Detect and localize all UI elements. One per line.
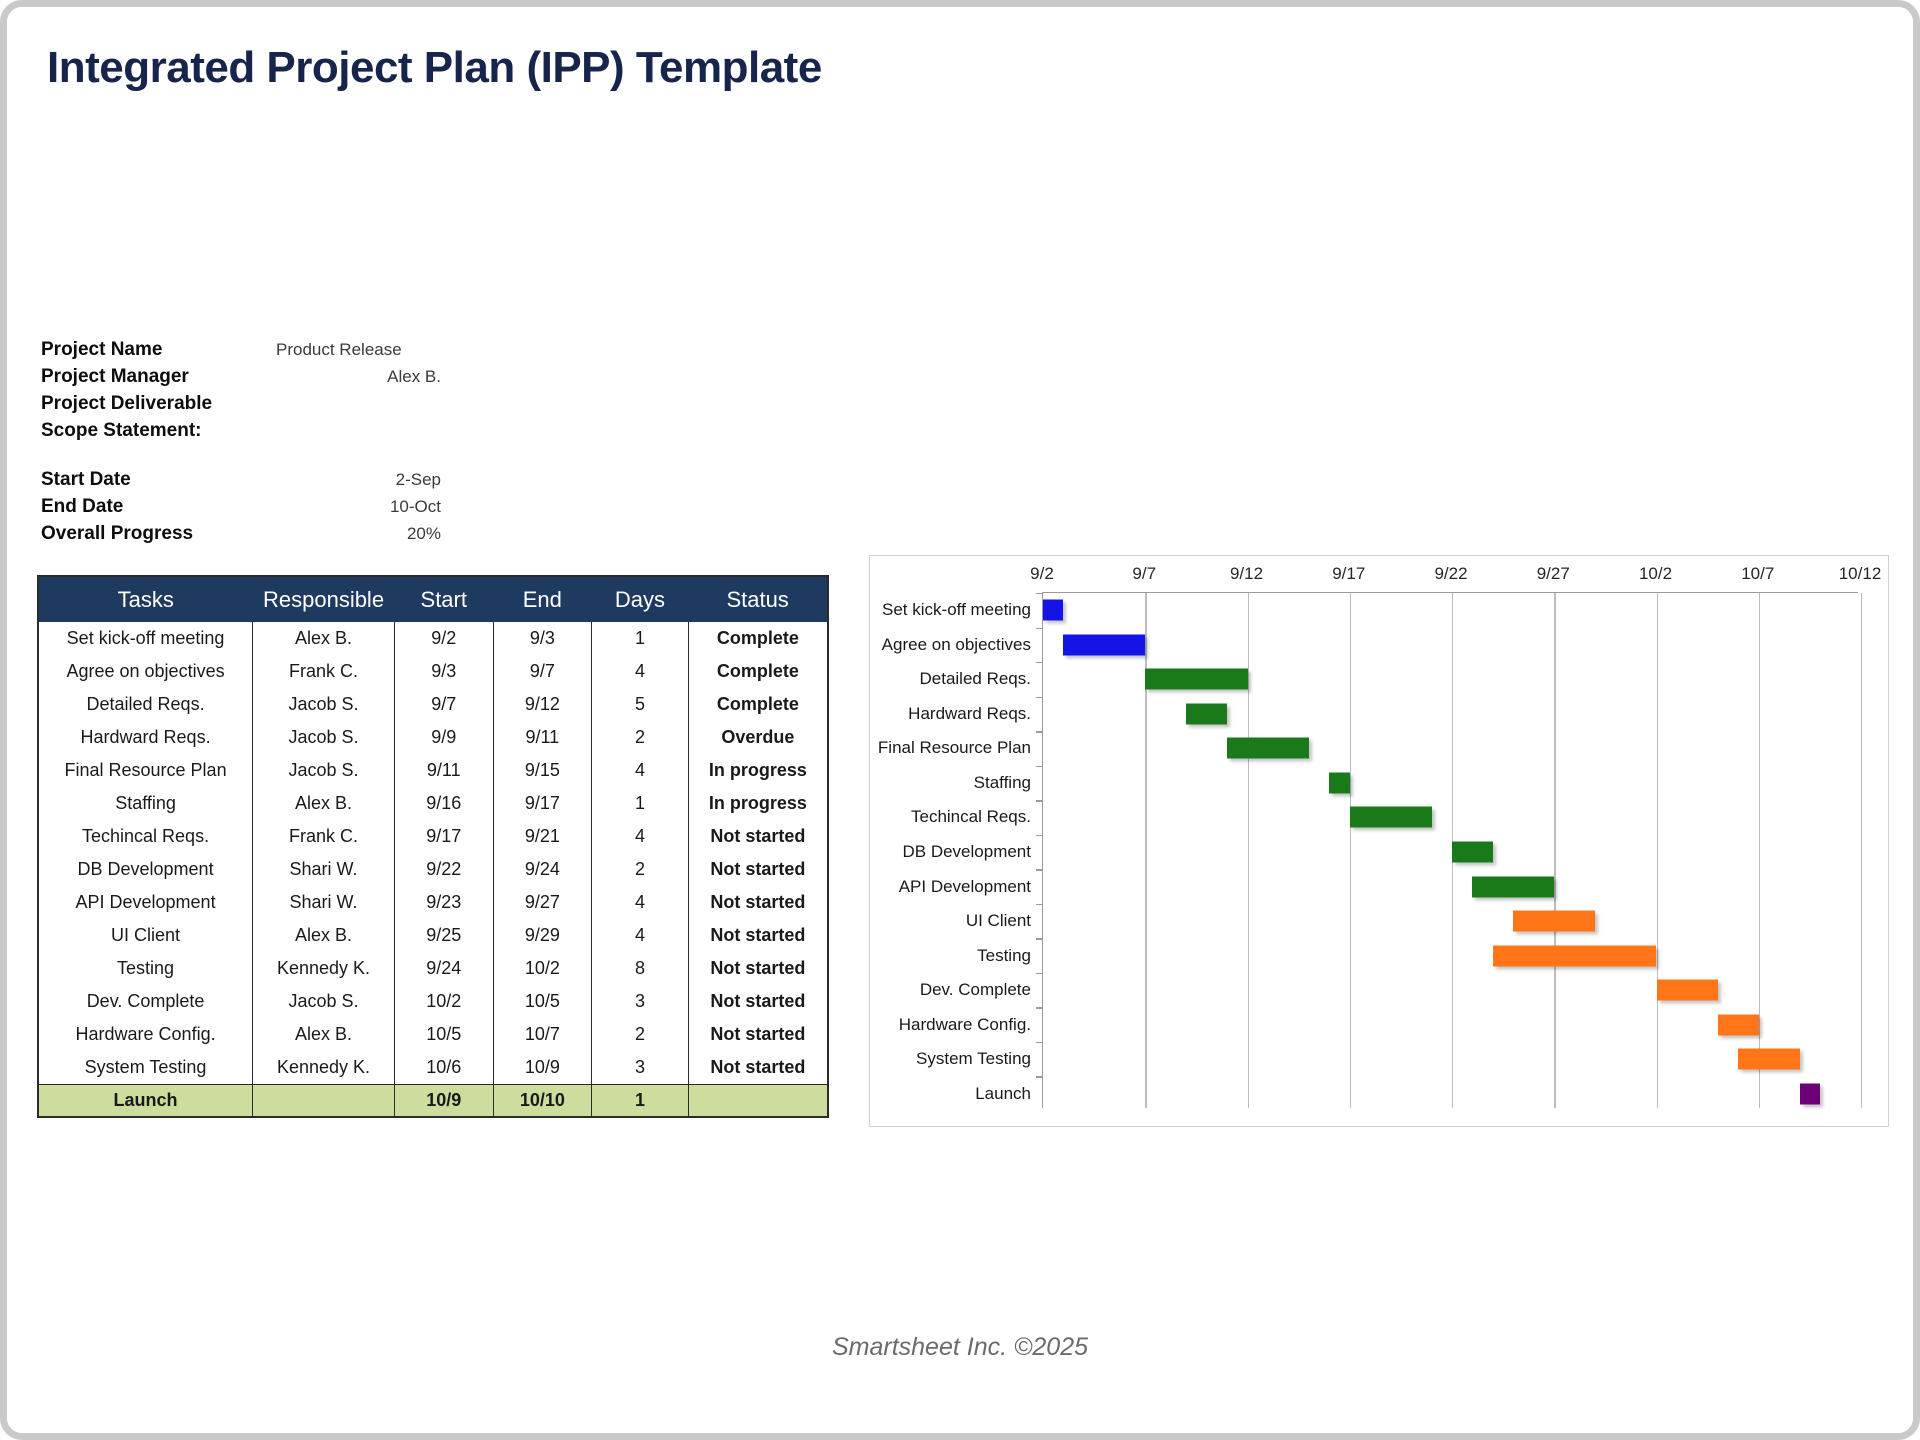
meta-row: Project ManagerAlex B. — [41, 366, 441, 393]
cell-task[interactable]: Staffing — [38, 787, 253, 820]
cell-end[interactable]: 10/7 — [493, 1018, 592, 1051]
table-row[interactable]: Launch10/910/101 — [38, 1084, 828, 1117]
cell-status[interactable]: In progress — [688, 787, 828, 820]
cell-days[interactable]: 4 — [592, 754, 689, 787]
cell-start[interactable]: 10/2 — [394, 985, 493, 1018]
gantt-bar[interactable] — [1452, 841, 1493, 862]
x-axis-tick-label: 10/7 — [1741, 564, 1774, 584]
cell-days[interactable]: 1 — [592, 1084, 689, 1117]
meta-label: Overall Progress — [41, 523, 276, 545]
gantt-bar[interactable] — [1329, 772, 1349, 793]
meta-value[interactable]: 20% — [276, 524, 441, 544]
cell-end[interactable]: 10/10 — [493, 1084, 592, 1117]
cell-task[interactable]: API Development — [38, 886, 253, 919]
table-row[interactable]: API DevelopmentShari W.9/239/274Not star… — [38, 886, 828, 919]
meta-value[interactable]: 2-Sep — [276, 470, 441, 490]
cell-end[interactable]: 9/21 — [493, 820, 592, 853]
gantt-chart: 9/29/79/129/179/229/2710/210/710/12 Set … — [869, 555, 1889, 1127]
gantt-row: Final Resource Plan — [1043, 731, 1858, 766]
meta-row: Project Deliverable — [41, 393, 441, 420]
gantt-row-label: Agree on objectives — [882, 635, 1031, 655]
y-axis-tickmark — [1036, 835, 1043, 836]
cell-responsible[interactable]: Shari W. — [253, 886, 395, 919]
gantt-bar[interactable] — [1350, 807, 1432, 828]
y-axis-tickmark — [1036, 697, 1043, 698]
cell-days[interactable]: 4 — [592, 655, 689, 688]
cell-days[interactable]: 1 — [592, 787, 689, 820]
cell-status[interactable]: Not started — [688, 952, 828, 985]
task-table-body: Set kick-off meetingAlex B.9/29/31Comple… — [38, 622, 828, 1117]
cell-end[interactable]: 9/15 — [493, 754, 592, 787]
cell-days[interactable]: 1 — [592, 622, 689, 655]
y-axis-tickmark — [1036, 662, 1043, 663]
y-axis-tickmark — [1036, 1076, 1043, 1077]
gantt-row-label: Launch — [975, 1084, 1031, 1104]
gantt-bar[interactable] — [1493, 945, 1657, 966]
cell-task[interactable]: Launch — [38, 1084, 253, 1117]
cell-status[interactable]: Complete — [688, 655, 828, 688]
gantt-row: DB Development — [1043, 835, 1858, 870]
cell-responsible[interactable]: Alex B. — [253, 787, 395, 820]
project-dates-block: Start Date2-SepEnd Date10-OctOverall Pro… — [41, 469, 441, 550]
cell-start[interactable]: 9/25 — [394, 919, 493, 952]
column-header-status[interactable]: Status — [688, 576, 828, 622]
meta-label: Scope Statement: — [41, 420, 276, 442]
cell-end[interactable]: 9/29 — [493, 919, 592, 952]
gridline — [1861, 593, 1862, 1108]
task-table: TasksResponsibleStartEndDaysStatus Set k… — [37, 575, 829, 1118]
y-axis-tickmark — [1036, 904, 1043, 905]
gantt-bar[interactable] — [1186, 703, 1227, 724]
cell-days[interactable]: 5 — [592, 688, 689, 721]
gantt-row-label: Hardware Config. — [899, 1015, 1031, 1035]
gantt-row-label: Techincal Reqs. — [911, 807, 1031, 827]
cell-days[interactable]: 2 — [592, 721, 689, 754]
project-info-block: Project NameProduct ReleaseProject Manag… — [41, 339, 441, 447]
column-header-responsible[interactable]: Responsible — [253, 576, 395, 622]
cell-start[interactable]: 9/22 — [394, 853, 493, 886]
x-axis-tick-label: 10/12 — [1839, 564, 1882, 584]
column-header-start[interactable]: Start — [394, 576, 493, 622]
table-row[interactable]: Hardward Reqs.Jacob S.9/99/112Overdue — [38, 721, 828, 754]
cell-days[interactable]: 3 — [592, 1051, 689, 1084]
gantt-row: Hardware Config. — [1043, 1007, 1858, 1042]
gantt-bar[interactable] — [1145, 669, 1247, 690]
cell-status[interactable]: Not started — [688, 919, 828, 952]
gantt-row: Launch — [1043, 1076, 1858, 1111]
y-axis-tickmark — [1036, 869, 1043, 870]
gantt-bar[interactable] — [1063, 634, 1145, 655]
cell-task[interactable]: Detailed Reqs. — [38, 688, 253, 721]
cell-status[interactable]: Complete — [688, 688, 828, 721]
cell-status[interactable]: In progress — [688, 754, 828, 787]
gantt-row: Agree on objectives — [1043, 628, 1858, 663]
cell-status[interactable]: Overdue — [688, 721, 828, 754]
cell-responsible[interactable] — [253, 1084, 395, 1117]
cell-end[interactable]: 9/11 — [493, 721, 592, 754]
cell-start[interactable]: 9/2 — [394, 622, 493, 655]
table-row[interactable]: StaffingAlex B.9/169/171In progress — [38, 787, 828, 820]
gantt-row: System Testing — [1043, 1042, 1858, 1077]
meta-row: Overall Progress20% — [41, 523, 441, 550]
meta-label: End Date — [41, 496, 276, 518]
gantt-row: Set kick-off meeting — [1043, 593, 1858, 628]
y-axis-tickmark — [1036, 766, 1043, 767]
cell-task[interactable]: Dev. Complete — [38, 985, 253, 1018]
cell-responsible[interactable]: Jacob S. — [253, 688, 395, 721]
gantt-row-label: DB Development — [902, 842, 1031, 862]
cell-responsible[interactable]: Jacob S. — [253, 985, 395, 1018]
cell-end[interactable]: 9/24 — [493, 853, 592, 886]
table-header-row: TasksResponsibleStartEndDaysStatus — [38, 576, 828, 622]
cell-status[interactable]: Not started — [688, 985, 828, 1018]
cell-end[interactable]: 9/12 — [493, 688, 592, 721]
cell-start[interactable]: 9/23 — [394, 886, 493, 919]
meta-label: Start Date — [41, 469, 276, 491]
task-table-header: TasksResponsibleStartEndDaysStatus — [38, 576, 828, 622]
cell-task[interactable]: Techincal Reqs. — [38, 820, 253, 853]
x-axis-tick-label: 9/22 — [1434, 564, 1467, 584]
cell-end[interactable]: 10/2 — [493, 952, 592, 985]
gantt-bar[interactable] — [1657, 980, 1718, 1001]
cell-responsible[interactable]: Jacob S. — [253, 754, 395, 787]
cell-days[interactable]: 4 — [592, 919, 689, 952]
gantt-row: Dev. Complete — [1043, 973, 1858, 1008]
gantt-row: Staffing — [1043, 766, 1858, 801]
y-axis-tickmark — [1036, 800, 1043, 801]
meta-value[interactable]: Alex B. — [276, 367, 441, 387]
cell-end[interactable]: 9/3 — [493, 622, 592, 655]
cell-start[interactable]: 10/6 — [394, 1051, 493, 1084]
cell-task[interactable]: UI Client — [38, 919, 253, 952]
cell-task[interactable]: Final Resource Plan — [38, 754, 253, 787]
cell-start[interactable]: 9/9 — [394, 721, 493, 754]
y-axis-tickmark — [1036, 973, 1043, 974]
cell-responsible[interactable]: Alex B. — [253, 1018, 395, 1051]
cell-responsible[interactable]: Frank C. — [253, 820, 395, 853]
gantt-plot-area: Set kick-off meetingAgree on objectivesD… — [1042, 592, 1858, 1108]
gantt-bar[interactable] — [1800, 1083, 1820, 1104]
cell-task[interactable]: Hardware Config. — [38, 1018, 253, 1051]
gantt-row: Techincal Reqs. — [1043, 800, 1858, 835]
cell-start[interactable]: 10/9 — [394, 1084, 493, 1117]
cell-end[interactable]: 10/9 — [493, 1051, 592, 1084]
cell-status[interactable]: Not started — [688, 853, 828, 886]
table-row[interactable]: Dev. CompleteJacob S.10/210/53Not starte… — [38, 985, 828, 1018]
gantt-row-label: Testing — [977, 946, 1031, 966]
x-axis-tick-label: 10/2 — [1639, 564, 1672, 584]
cell-task[interactable]: Set kick-off meeting — [38, 622, 253, 655]
cell-responsible[interactable]: Alex B. — [253, 919, 395, 952]
cell-days[interactable]: 3 — [592, 985, 689, 1018]
cell-status[interactable]: Complete — [688, 622, 828, 655]
meta-row: End Date10-Oct — [41, 496, 441, 523]
cell-task[interactable]: Testing — [38, 952, 253, 985]
cell-end[interactable]: 10/5 — [493, 985, 592, 1018]
cell-days[interactable]: 8 — [592, 952, 689, 985]
cell-status[interactable] — [688, 1084, 828, 1117]
cell-responsible[interactable]: Kennedy K. — [253, 1051, 395, 1084]
gantt-x-axis: 9/29/79/129/179/229/2710/210/710/12 — [870, 556, 1888, 592]
meta-label: Project Name — [41, 339, 276, 361]
cell-responsible[interactable]: Shari W. — [253, 853, 395, 886]
gantt-bar[interactable] — [1718, 1014, 1759, 1035]
meta-row: Project NameProduct Release — [41, 339, 441, 366]
gantt-row-label: Detailed Reqs. — [919, 669, 1031, 689]
gantt-row: API Development — [1043, 869, 1858, 904]
cell-start[interactable]: 9/16 — [394, 787, 493, 820]
gantt-row-label: Set kick-off meeting — [882, 600, 1031, 620]
footer-credit: Smartsheet Inc. ©2025 — [7, 1333, 1913, 1362]
table-row[interactable]: Agree on objectivesFrank C.9/39/74Comple… — [38, 655, 828, 688]
cell-status[interactable]: Not started — [688, 820, 828, 853]
table-row[interactable]: System TestingKennedy K.10/610/93Not sta… — [38, 1051, 828, 1084]
cell-end[interactable]: 9/27 — [493, 886, 592, 919]
column-header-days[interactable]: Days — [592, 576, 689, 622]
cell-status[interactable]: Not started — [688, 1051, 828, 1084]
cell-task[interactable]: DB Development — [38, 853, 253, 886]
cell-end[interactable]: 9/17 — [493, 787, 592, 820]
cell-days[interactable]: 2 — [592, 853, 689, 886]
y-axis-tickmark — [1036, 628, 1043, 629]
y-axis-tickmark — [1036, 938, 1043, 939]
gantt-row-label: Dev. Complete — [920, 980, 1031, 1000]
cell-start[interactable]: 9/24 — [394, 952, 493, 985]
gantt-bar[interactable] — [1043, 600, 1063, 621]
cell-responsible[interactable]: Frank C. — [253, 655, 395, 688]
cell-start[interactable]: 9/17 — [394, 820, 493, 853]
cell-days[interactable]: 4 — [592, 820, 689, 853]
column-header-end[interactable]: End — [493, 576, 592, 622]
table-row[interactable]: Hardware Config.Alex B.10/510/72Not star… — [38, 1018, 828, 1051]
cell-status[interactable]: Not started — [688, 1018, 828, 1051]
page-title: Integrated Project Plan (IPP) Template — [47, 43, 822, 93]
cell-task[interactable]: System Testing — [38, 1051, 253, 1084]
page-canvas: Integrated Project Plan (IPP) Template P… — [7, 7, 1913, 1433]
cell-days[interactable]: 4 — [592, 886, 689, 919]
meta-label: Project Manager — [41, 366, 276, 388]
x-axis-tick-label: 9/27 — [1537, 564, 1570, 584]
cell-responsible[interactable]: Alex B. — [253, 622, 395, 655]
gantt-bar[interactable] — [1738, 1049, 1799, 1070]
cell-task[interactable]: Agree on objectives — [38, 655, 253, 688]
gantt-row: Hardward Reqs. — [1043, 697, 1858, 732]
meta-row: Start Date2-Sep — [41, 469, 441, 496]
meta-row: Scope Statement: — [41, 420, 441, 447]
meta-value[interactable]: 10-Oct — [276, 497, 441, 517]
cell-task[interactable]: Hardward Reqs. — [38, 721, 253, 754]
gantt-row-label: Hardward Reqs. — [908, 704, 1031, 724]
gantt-row-label: Staffing — [974, 773, 1031, 793]
table-row[interactable]: Techincal Reqs.Frank C.9/179/214Not star… — [38, 820, 828, 853]
cell-start[interactable]: 9/3 — [394, 655, 493, 688]
gantt-bar[interactable] — [1513, 911, 1595, 932]
x-axis-tick-label: 9/12 — [1230, 564, 1263, 584]
y-axis-tickmark — [1036, 731, 1043, 732]
table-row[interactable]: DB DevelopmentShari W.9/229/242Not start… — [38, 853, 828, 886]
cell-start[interactable]: 10/5 — [394, 1018, 493, 1051]
gantt-row-label: API Development — [899, 877, 1031, 897]
meta-value[interactable]: Product Release — [276, 340, 441, 360]
table-row[interactable]: Set kick-off meetingAlex B.9/29/31Comple… — [38, 622, 828, 655]
y-axis-tickmark — [1036, 1007, 1043, 1008]
cell-responsible[interactable]: Jacob S. — [253, 721, 395, 754]
cell-responsible[interactable]: Kennedy K. — [253, 952, 395, 985]
cell-days[interactable]: 2 — [592, 1018, 689, 1051]
gantt-bar[interactable] — [1227, 738, 1309, 759]
table-row[interactable]: UI ClientAlex B.9/259/294Not started — [38, 919, 828, 952]
y-axis-tickmark — [1036, 593, 1043, 594]
gantt-row-label: System Testing — [916, 1049, 1031, 1069]
x-axis-tick-label: 9/17 — [1332, 564, 1365, 584]
document-page: Integrated Project Plan (IPP) Template P… — [0, 0, 1920, 1440]
cell-start[interactable]: 9/7 — [394, 688, 493, 721]
cell-start[interactable]: 9/11 — [394, 754, 493, 787]
column-header-tasks[interactable]: Tasks — [38, 576, 253, 622]
gantt-row-label: UI Client — [966, 911, 1031, 931]
gantt-row: UI Client — [1043, 904, 1858, 939]
gantt-row: Detailed Reqs. — [1043, 662, 1858, 697]
x-axis-tick-label: 9/7 — [1132, 564, 1156, 584]
gantt-row-label: Final Resource Plan — [878, 738, 1031, 758]
cell-end[interactable]: 9/7 — [493, 655, 592, 688]
x-axis-tick-label: 9/2 — [1030, 564, 1054, 584]
cell-status[interactable]: Not started — [688, 886, 828, 919]
gantt-bar[interactable] — [1472, 876, 1554, 897]
table-row[interactable]: TestingKennedy K.9/2410/28Not started — [38, 952, 828, 985]
meta-label: Project Deliverable — [41, 393, 276, 415]
gantt-row: Testing — [1043, 938, 1858, 973]
table-row[interactable]: Detailed Reqs.Jacob S.9/79/125Complete — [38, 688, 828, 721]
y-axis-tickmark — [1036, 1042, 1043, 1043]
table-row[interactable]: Final Resource PlanJacob S.9/119/154In p… — [38, 754, 828, 787]
